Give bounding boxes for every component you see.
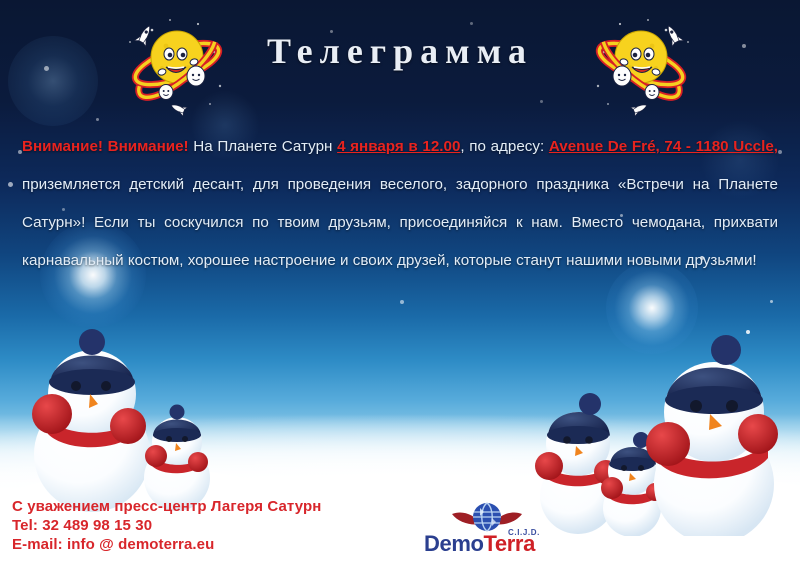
poster-header: Телеграмма — [0, 0, 800, 120]
body-segment-3: , по адресу: — [460, 138, 548, 155]
snowman-large — [646, 335, 778, 536]
body-segment-2: 4 января в 12.00 — [337, 138, 460, 155]
contact-line-signature: С уважением пресс-центр Лагеря Сатурн — [12, 497, 321, 516]
announcement-body: Внимание! Внимание! На Планете Сатурн 4 … — [22, 128, 778, 280]
logo-word-demo: Demo — [424, 531, 484, 556]
star — [400, 300, 404, 304]
snowmen-group-left — [6, 322, 236, 512]
contact-line-email: E-mail: info @ demoterra.eu — [12, 535, 321, 554]
logo-wordmark: DemoTerra — [424, 532, 554, 556]
snowman-large — [32, 329, 150, 512]
star — [770, 300, 773, 303]
body-segment-1: На Планете Сатурн — [193, 138, 337, 155]
contact-line-phone: Tel: 32 489 98 15 30 — [12, 516, 321, 535]
body-segment-0: Внимание! Внимание! — [22, 138, 193, 155]
contact-block: С уважением пресс-центр Лагеря Сатурн Te… — [12, 497, 321, 554]
star — [778, 150, 782, 154]
snowman-small — [144, 405, 210, 512]
telegram-poster: Телеграмма — [0, 0, 800, 564]
demoterra-logo: C.I.J.D. DemoTerra — [424, 502, 554, 558]
star — [8, 182, 13, 187]
body-segment-5: приземляется детский десант, для проведе… — [22, 176, 778, 269]
snowmen-group-right — [528, 316, 800, 536]
saturn-planet-mascot-icon — [586, 12, 696, 116]
body-segment-4: Avenue De Fré, 74 - 1180 Uccle, — [549, 138, 778, 155]
logo-word-terra: Terra — [484, 531, 535, 556]
